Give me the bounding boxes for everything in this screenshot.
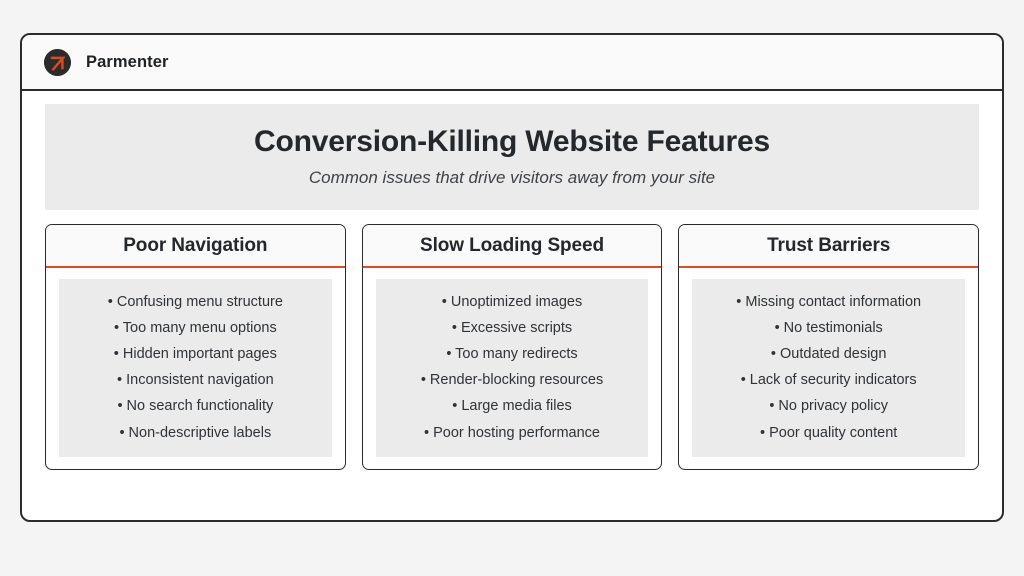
card-title: Poor Navigation xyxy=(54,235,337,257)
title-banner: Conversion-Killing Website Features Comm… xyxy=(45,104,979,210)
card-body: • Missing contact information • No testi… xyxy=(679,268,978,469)
list-item: • Outdated design xyxy=(698,341,959,367)
list-item: • Non-descriptive labels xyxy=(65,420,326,446)
list-item: • No search functionality xyxy=(65,393,326,419)
list-item: • Too many redirects xyxy=(382,341,643,367)
list-item: • Render-blocking resources xyxy=(382,367,643,393)
slide-body: Conversion-Killing Website Features Comm… xyxy=(22,91,1002,470)
card-title: Slow Loading Speed xyxy=(371,235,654,257)
list-item: • Too many menu options xyxy=(65,315,326,341)
list-item: • No testimonials xyxy=(698,315,959,341)
list-item: • Lack of security indicators xyxy=(698,367,959,393)
card-body: • Unoptimized images • Excessive scripts… xyxy=(363,268,662,469)
category-card-slow-loading-speed: Slow Loading Speed • Unoptimized images … xyxy=(362,224,663,470)
list-item: • Excessive scripts xyxy=(382,315,643,341)
card-body: • Confusing menu structure • Too many me… xyxy=(46,268,345,469)
item-list: • Missing contact information • No testi… xyxy=(692,279,965,457)
category-card-trust-barriers: Trust Barriers • Missing contact informa… xyxy=(678,224,979,470)
brand-name: Parmenter xyxy=(86,53,169,72)
list-item: • Unoptimized images xyxy=(382,289,643,315)
list-item: • Poor quality content xyxy=(698,420,959,446)
card-header: Slow Loading Speed xyxy=(363,225,662,268)
list-item: • Inconsistent navigation xyxy=(65,367,326,393)
list-item: • Large media files xyxy=(382,393,643,419)
card-header: Poor Navigation xyxy=(46,225,345,268)
card-title: Trust Barriers xyxy=(687,235,970,257)
list-item: • Confusing menu structure xyxy=(65,289,326,315)
page-subtitle: Common issues that drive visitors away f… xyxy=(65,168,959,188)
category-columns: Poor Navigation • Confusing menu structu… xyxy=(45,224,979,470)
list-item: • No privacy policy xyxy=(698,393,959,419)
category-card-poor-navigation: Poor Navigation • Confusing menu structu… xyxy=(45,224,346,470)
card-header: Trust Barriers xyxy=(679,225,978,268)
slide-frame: Parmenter Conversion-Killing Website Fea… xyxy=(20,33,1004,522)
list-item: • Poor hosting performance xyxy=(382,420,643,446)
brand-header-bar: Parmenter xyxy=(22,35,1002,91)
list-item: • Hidden important pages xyxy=(65,341,326,367)
arrow-seven-logo-icon xyxy=(44,49,71,76)
item-list: • Unoptimized images • Excessive scripts… xyxy=(376,279,649,457)
page-title: Conversion-Killing Website Features xyxy=(65,125,959,159)
list-item: • Missing contact information xyxy=(698,289,959,315)
item-list: • Confusing menu structure • Too many me… xyxy=(59,279,332,457)
